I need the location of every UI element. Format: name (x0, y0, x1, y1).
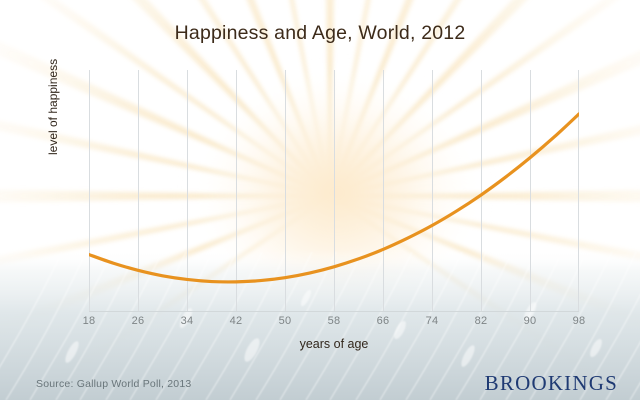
chart-figure: Happiness and Age, World, 2012 (0, 0, 640, 400)
y-axis-title: level of happiness (46, 35, 60, 155)
plot-svg (89, 70, 579, 320)
page-title: Happiness and Age, World, 2012 (0, 22, 640, 45)
x-tick-label: 34 (167, 315, 207, 327)
source-note: Source: Gallup World Poll, 2013 (36, 378, 191, 390)
x-tick-label: 74 (412, 315, 452, 327)
x-tick-label: 50 (265, 315, 305, 327)
x-tick-label: 42 (216, 315, 256, 327)
x-tick-label: 18 (69, 315, 109, 327)
x-tick-label: 26 (118, 315, 158, 327)
x-tick-label: 90 (510, 315, 550, 327)
x-tick-label: 82 (461, 315, 501, 327)
x-tick-label: 66 (363, 315, 403, 327)
x-axis-tick-labels: 18 26 34 42 50 58 66 74 82 90 98 (0, 315, 640, 331)
x-tick-label: 58 (314, 315, 354, 327)
x-tick-label: 98 (559, 315, 599, 327)
plot-area (89, 70, 579, 312)
brookings-logo: BROOKINGS (485, 371, 618, 396)
x-axis-title: years of age (89, 337, 579, 351)
